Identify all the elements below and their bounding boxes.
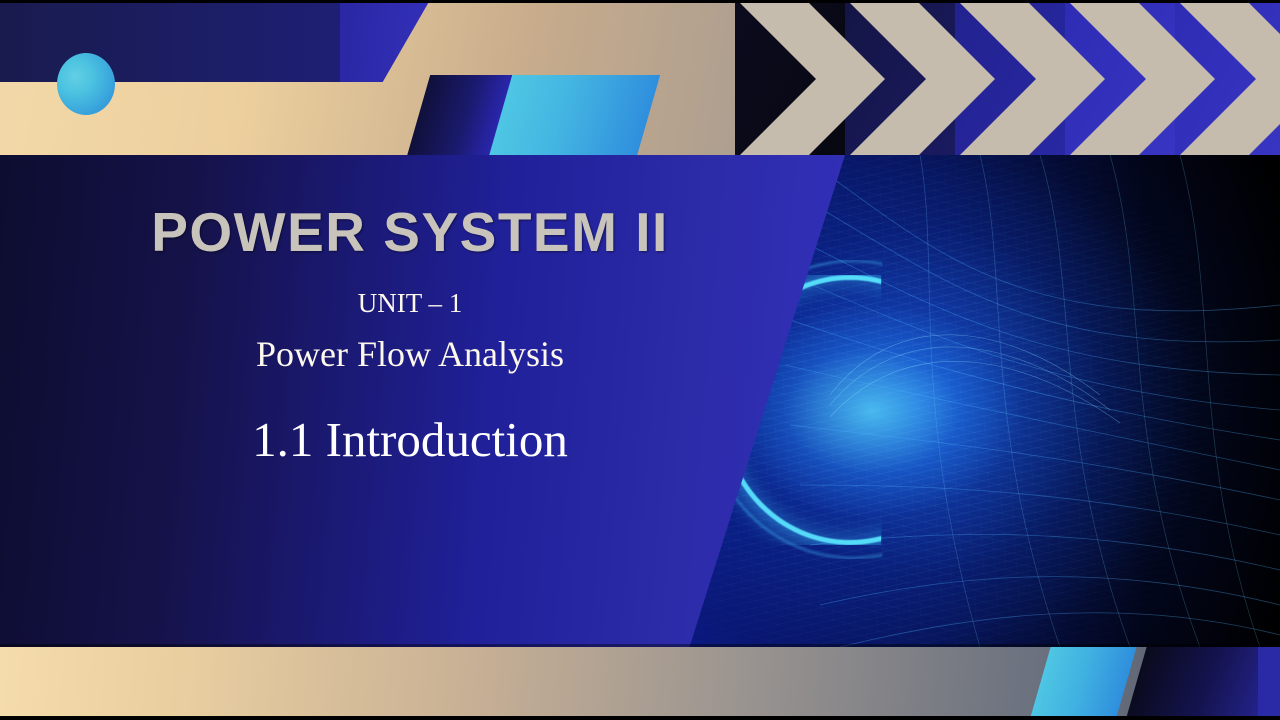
letterbox-top bbox=[0, 0, 1280, 3]
sphere-icon bbox=[57, 53, 115, 115]
parallelogram-cyan bbox=[488, 75, 660, 160]
bottom-decoration-band bbox=[0, 647, 1280, 720]
parallelogram-navy-bottom bbox=[1124, 647, 1280, 720]
navy-strip bbox=[0, 0, 340, 82]
bottom-right-fill bbox=[1258, 647, 1280, 720]
subtitle-label: Power Flow Analysis bbox=[0, 333, 820, 375]
page-title: POWER SYSTEM II bbox=[0, 200, 820, 264]
letterbox-bottom bbox=[0, 716, 1280, 720]
unit-label: UNIT – 1 bbox=[0, 288, 820, 319]
top-decoration-band bbox=[0, 0, 1280, 160]
parallelogram-cyan-bottom bbox=[1028, 647, 1138, 720]
slide-main-panel: POWER SYSTEM II UNIT – 1 Power Flow Anal… bbox=[0, 155, 1280, 647]
section-heading: 1.1 Introduction bbox=[0, 411, 820, 468]
slide-text-block: POWER SYSTEM II UNIT – 1 Power Flow Anal… bbox=[0, 155, 845, 647]
presentation-slide: POWER SYSTEM II UNIT – 1 Power Flow Anal… bbox=[0, 0, 1280, 720]
